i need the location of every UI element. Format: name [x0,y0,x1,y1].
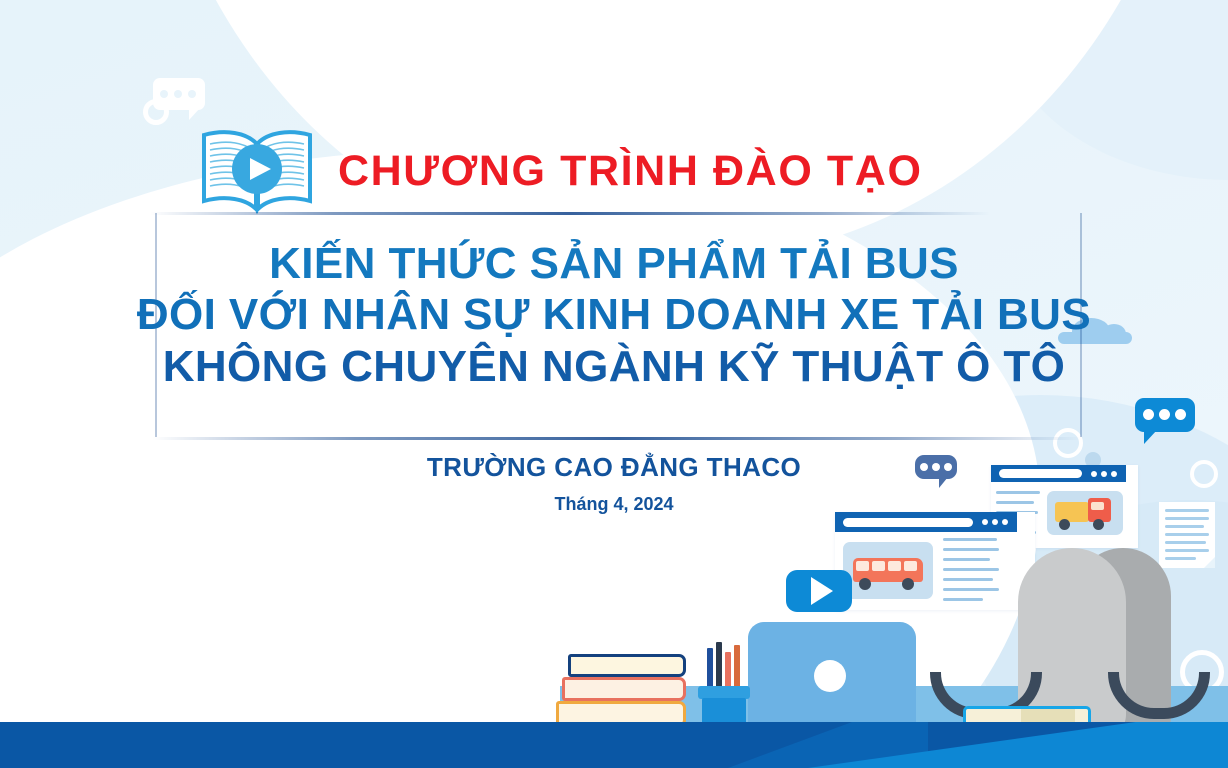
divider-top [150,212,990,215]
pencil-cup [698,640,750,732]
browser-card-bus [835,512,1035,610]
browser-window-dots [982,519,1008,525]
title-line-1: KIẾN THỨC SẢN PHẨM TẢI BUS [0,238,1228,289]
card-text-lines [943,538,999,608]
eyebrow-title: CHƯƠNG TRÌNH ĐÀO TẠO [338,150,923,193]
decorative-circle-3 [697,565,737,605]
browser-card-bus-titlebar [835,512,1017,532]
laptop-logo-dot [814,660,846,692]
chat-bubble-large [1135,398,1195,444]
pencil-orange [734,645,740,692]
browser-address-bar [843,518,973,527]
decorative-circle-1 [263,26,307,70]
title-line-3: KHÔNG CHUYÊN NGÀNH KỸ THUẬT Ô TÔ [0,341,1228,392]
presentation-date: Tháng 4, 2024 [0,494,1228,515]
bottom-bar [0,722,1228,768]
presentation-slide: CHƯƠNG TRÌNH ĐÀO TẠO KIẾN THỨC SẢN PHẨM … [0,0,1228,768]
book-navy [568,654,686,677]
header-row: CHƯƠNG TRÌNH ĐÀO TẠO [198,125,923,217]
open-book-play-icon [198,125,316,217]
book-red [562,677,686,701]
laptop-screen [748,622,916,730]
title-line-2: ĐỐI VỚI NHÂN SỰ KINH DOANH XE TẢI BUS [0,289,1228,340]
organization-name: TRƯỜNG CAO ĐẲNG THACO [0,452,1228,483]
pen-dark [716,642,722,692]
book-stack [556,654,686,732]
play-icon [811,577,833,605]
main-title: KIẾN THỨC SẢN PHẨM TẢI BUS ĐỐI VỚI NHÂN … [0,238,1228,392]
play-button-chip[interactable] [786,570,852,612]
bus-thumbnail [843,542,933,599]
divider-bottom [152,437,1082,440]
decorative-chat-icon [143,78,205,124]
